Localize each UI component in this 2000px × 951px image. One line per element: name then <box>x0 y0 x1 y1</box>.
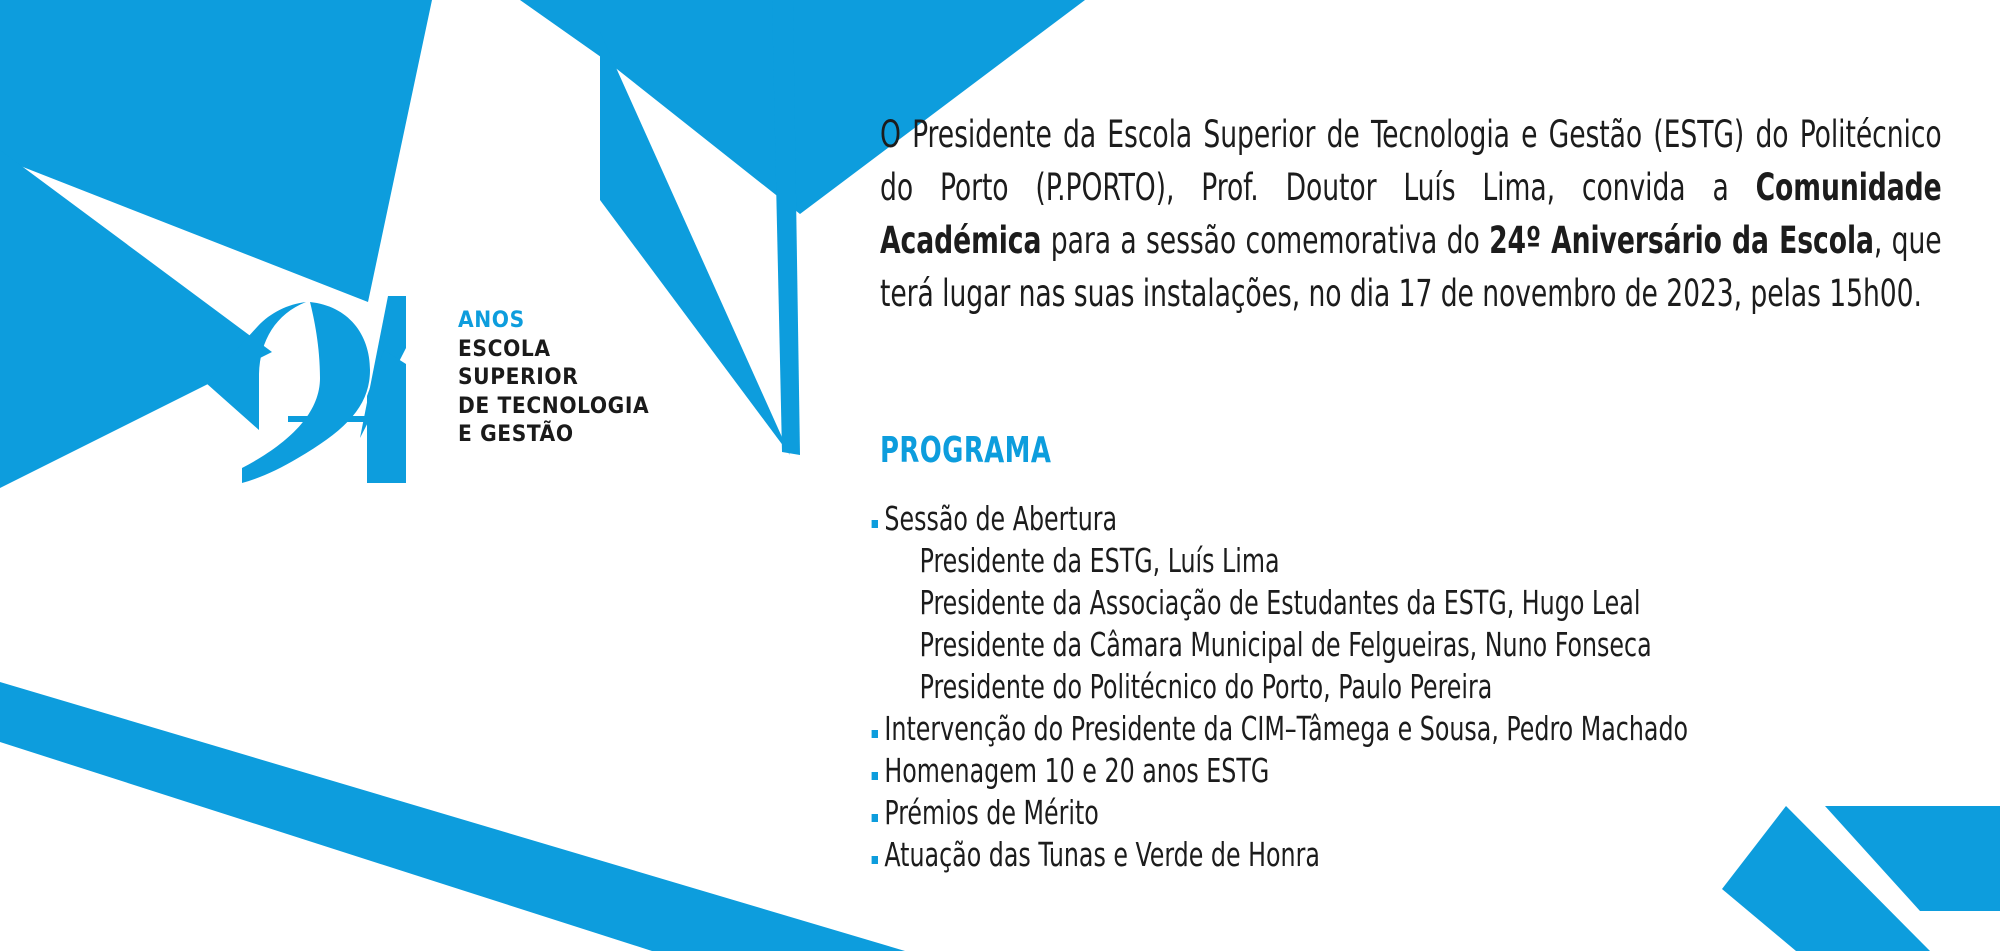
logo-two-glyph <box>206 302 306 430</box>
logo-line-e-gestao: E GESTÃO <box>458 420 688 449</box>
logo-line-escola: ESCOLA <box>458 335 688 364</box>
anniversary-logo: ANOS ESCOLA SUPERIOR DE TECNOLOGIA E GES… <box>170 278 690 508</box>
programa-heading: PROGRAMA <box>880 430 1051 471</box>
logo-four-crossbar <box>288 416 406 422</box>
program-item-presidente-politecnico: Presidente do Politécnico do Porto, Paul… <box>870 666 1934 708</box>
top-left-wedge-shape <box>0 0 432 302</box>
program-item-presidente-ae: Presidente da Associação de Estudantes d… <box>870 582 1934 624</box>
program-item-sessao-abertura: Sessão de Abertura <box>870 498 1934 540</box>
intro-bold-aniversario: 24º Aniversário da Escola <box>1489 219 1874 262</box>
bottom-left-band-shape <box>0 682 905 951</box>
intro-part2: para a sessão comemorativa do <box>1041 219 1489 262</box>
logo-line-superior: SUPERIOR <box>458 363 688 392</box>
program-item-presidente-camara: Presidente da Câmara Municipal de Felgue… <box>870 624 1934 666</box>
top-vee-stroke-shape <box>772 0 800 455</box>
logo-line-anos: ANOS <box>458 306 688 335</box>
invitation-paragraph: O Presidente da Escola Superior de Tecno… <box>880 108 1942 320</box>
logo-wordmark: ANOS ESCOLA SUPERIOR DE TECNOLOGIA E GES… <box>458 306 688 449</box>
poster-canvas: ANOS ESCOLA SUPERIOR DE TECNOLOGIA E GES… <box>0 0 2000 951</box>
program-list: Sessão de Abertura Presidente da ESTG, L… <box>870 498 1934 876</box>
logo-24-mark <box>170 278 430 493</box>
program-item-homenagem: Homenagem 10 e 20 anos ESTG <box>870 750 1934 792</box>
program-item-premios-merito: Prémios de Mérito <box>870 792 1934 834</box>
program-item-intervencao-cim: Intervenção do Presidente da CIM–Tâmega … <box>870 708 1934 750</box>
program-item-presidente-estg: Presidente da ESTG, Luís Lima <box>870 540 1934 582</box>
logo-line-de-tecnologia: DE TECNOLOGIA <box>458 392 688 421</box>
program-item-atuacao-tunas: Atuação das Tunas e Verde de Honra <box>870 834 1934 876</box>
invitation-content: O Presidente da Escola Superior de Tecno… <box>880 108 1942 320</box>
